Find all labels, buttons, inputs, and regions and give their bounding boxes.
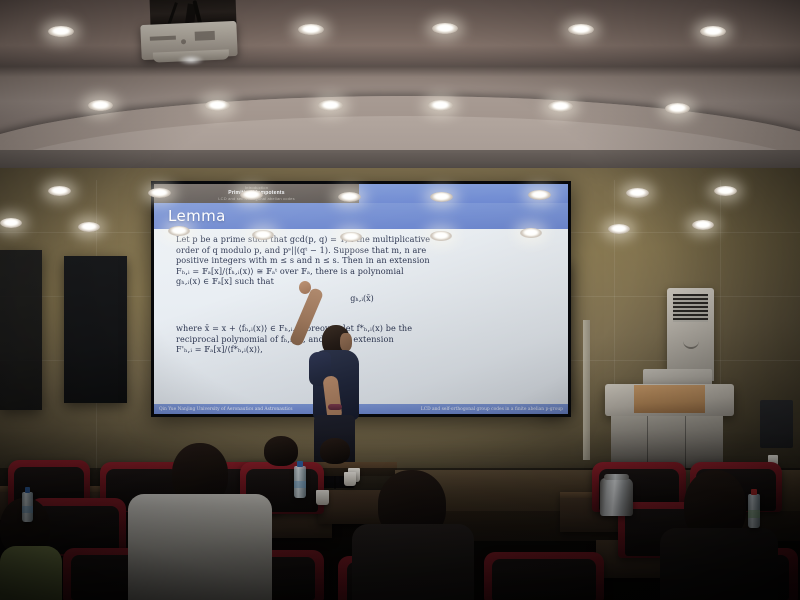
ceiling-lamp (252, 230, 274, 240)
ceiling (0, 0, 800, 175)
ceiling-lamp (692, 220, 714, 230)
slide-text-line: Let p be a prime such that gcd(p, q) = 1… (176, 234, 548, 245)
projection-screen: Introduction Primitive idempotents LCD a… (151, 181, 571, 417)
water-bottle[interactable] (748, 494, 760, 528)
ceiling-lamp (700, 26, 726, 37)
slide-spacer (176, 355, 548, 368)
ceiling-lamp (428, 100, 453, 111)
ceiling-lamp (520, 228, 542, 238)
podium-cabinet (611, 416, 723, 468)
slide-page-navigation[interactable]: ‹ ‹‹ › ›› ‹ › 12 / 27 (494, 398, 560, 403)
slide-text-line: where x̄ = x + ⟨fₕ,ᵢ(x)⟩ ∈ Fₕ,ᵢ. Moreove… (176, 323, 548, 334)
kettle-lid (604, 474, 629, 480)
ceiling-lamp (340, 232, 362, 242)
ceiling-lamp (148, 188, 171, 198)
bottle-cap (297, 461, 303, 467)
slide-body: Let p be a prime such that gcd(p, q) = 1… (154, 229, 568, 399)
projector-vent (150, 36, 176, 41)
audience-head (264, 436, 298, 466)
air-conditioner-grille (673, 294, 708, 322)
ceiling-lamp (626, 188, 649, 198)
ceiling-lamp (78, 222, 100, 232)
slide-text-line: order of q modulo p, and pˢ||(qᵗ − 1). S… (176, 245, 548, 256)
blackboard-panel-left (64, 256, 127, 403)
ceiling-lamp (48, 26, 74, 37)
ceiling-lamp (318, 100, 343, 111)
projector-indicator-icon (181, 39, 186, 44)
slide-text-line: reciprocal polynomial of fₕ,ᵢ(x), and in… (176, 334, 548, 345)
ceiling-lamp (298, 24, 324, 35)
ceiling-lamp (0, 218, 22, 228)
cabinet-seam (647, 416, 648, 468)
electric-kettle[interactable] (600, 478, 633, 516)
cabinet-seam (685, 416, 686, 468)
auditorium-seat[interactable] (484, 552, 604, 600)
presenter-watch (328, 404, 342, 410)
bottle-label (22, 506, 33, 513)
ceiling-lamp (430, 231, 452, 241)
slide-block-title-label: Lemma (154, 207, 226, 225)
side-monitor (760, 400, 793, 448)
slide-top-bar: Introduction Primitive idempotents LCD a… (154, 184, 568, 203)
paper-cup[interactable] (316, 490, 329, 505)
slide-footer: Qin Yue Nanjing University of Aeronautic… (154, 404, 568, 414)
bottle-cap (751, 489, 757, 495)
ceiling-lamp (568, 24, 594, 35)
ceiling-lamp (665, 103, 690, 114)
projector-lens-glow-icon (178, 55, 204, 65)
projector-panel (195, 31, 215, 41)
ceiling-lamp (528, 190, 551, 200)
presenter-face (340, 333, 352, 351)
audience-head (320, 438, 350, 464)
bottle-label (294, 481, 306, 489)
slide-text-line: gₕ,ᵢ(x) ∈ 𝔽ₐ[x] such that (176, 276, 548, 287)
ceiling-lamp (48, 186, 71, 196)
ceiling-lamp (608, 224, 630, 234)
blackboard-panel-far-left (0, 250, 42, 410)
ceiling-lamp (338, 192, 361, 202)
water-bottle[interactable] (294, 466, 306, 498)
slide-block-title: Lemma (154, 203, 568, 229)
ceiling-lamp (240, 190, 263, 200)
ceiling-lamp (205, 100, 230, 111)
wall-post (583, 320, 590, 460)
ceiling-lamp (168, 226, 190, 236)
ceiling-lamp (88, 100, 113, 111)
podium-wood-facing (634, 385, 705, 413)
paper-cup[interactable] (344, 472, 356, 486)
slide-footer-author: Qin Yue Nanjing University of Aeronautic… (159, 407, 293, 412)
audience-body (352, 524, 474, 600)
audience-body (128, 494, 272, 600)
water-bottle[interactable] (22, 492, 33, 522)
slide-spacer (176, 310, 548, 323)
ceiling-lamp (714, 186, 737, 196)
lecture-hall-photo: Introduction Primitive idempotents LCD a… (0, 0, 800, 600)
bottle-label (748, 510, 760, 518)
bottle-cap (25, 487, 30, 493)
slide-equation: gₕ,ᵢ(x̄) (176, 294, 548, 303)
presentation-slide: Introduction Primitive idempotents LCD a… (154, 184, 568, 414)
slide-text-line: F'ₕ,ᵢ = 𝔽ₐ[x]/⟨f*ₕ,ᵢ(x)⟩, (176, 344, 548, 355)
slide-text-line: positive integers with m ≤ s and n ≤ s. … (176, 255, 548, 266)
slide-footer-title: LCD and self-orthogonal group codes in a… (421, 407, 563, 412)
ceiling-lamp (548, 101, 573, 112)
audience-body (660, 528, 778, 600)
audience-body (0, 546, 62, 600)
ceiling-lamp (430, 192, 453, 202)
ceiling-lamp (432, 23, 458, 34)
slide-text-line: Fₕ,ᵢ = 𝔽ₐ[x]/⟨fₕ,ᵢ(x)⟩ ≅ 𝔽ₐᵗ over 𝔽ₐ, th… (176, 266, 548, 277)
